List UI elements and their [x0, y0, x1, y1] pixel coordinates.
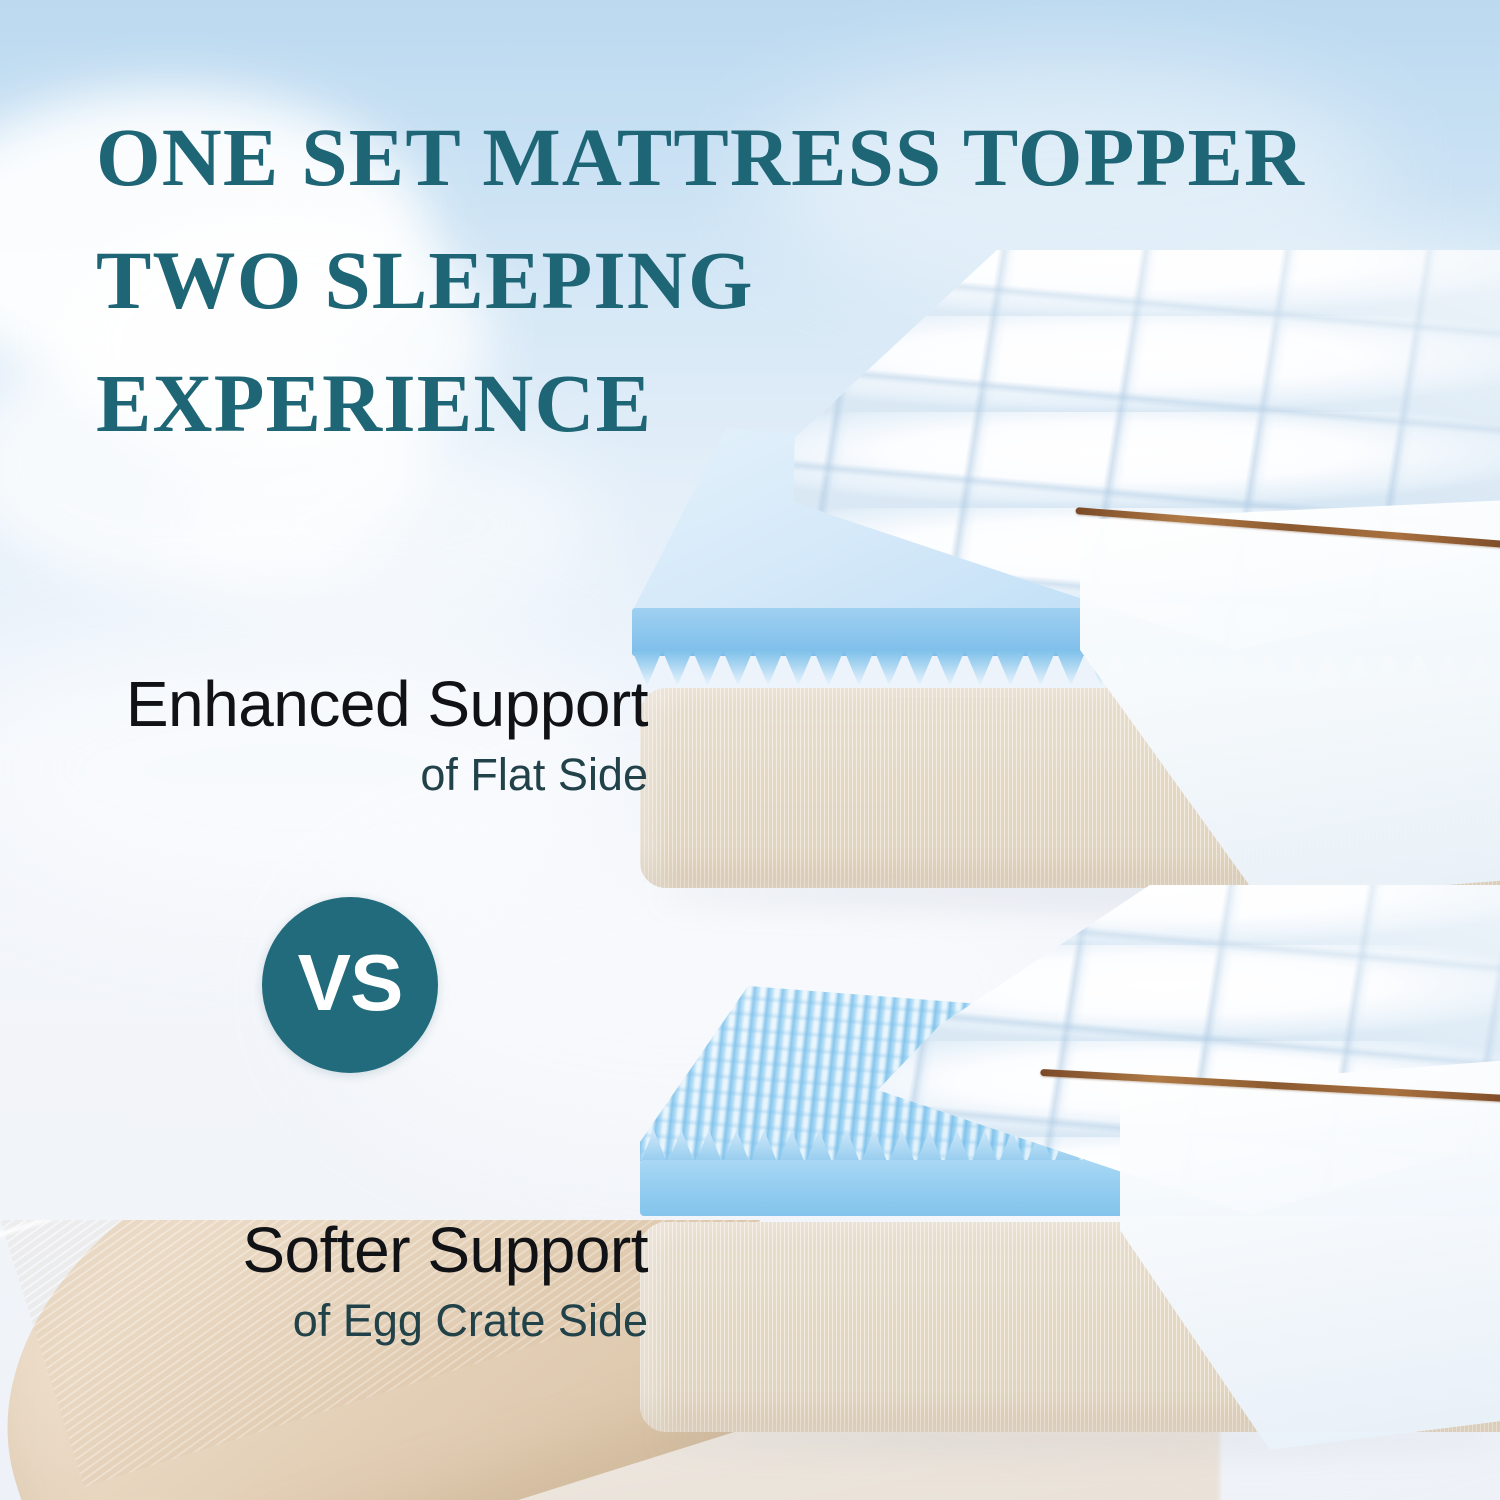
cloud-shape [180, 420, 600, 630]
comparison-label-top: Enhanced Support of Flat Side [0, 672, 648, 797]
cloud-shape [330, 830, 1090, 1160]
vs-badge-label: VS [298, 943, 403, 1023]
comparison-label-bottom: Softer Support of Egg Crate Side [0, 1218, 648, 1343]
product-marketing-image: ONE SET MATTRESS TOPPER TWO SLEEPING EXP… [0, 0, 1500, 1500]
vs-badge: VS [262, 897, 438, 1073]
comparison-bottom-title: Softer Support [0, 1218, 648, 1282]
comparison-top-subtitle: of Flat Side [0, 752, 648, 797]
comparison-bottom-subtitle: of Egg Crate Side [0, 1298, 648, 1343]
comparison-top-title: Enhanced Support [0, 672, 648, 736]
